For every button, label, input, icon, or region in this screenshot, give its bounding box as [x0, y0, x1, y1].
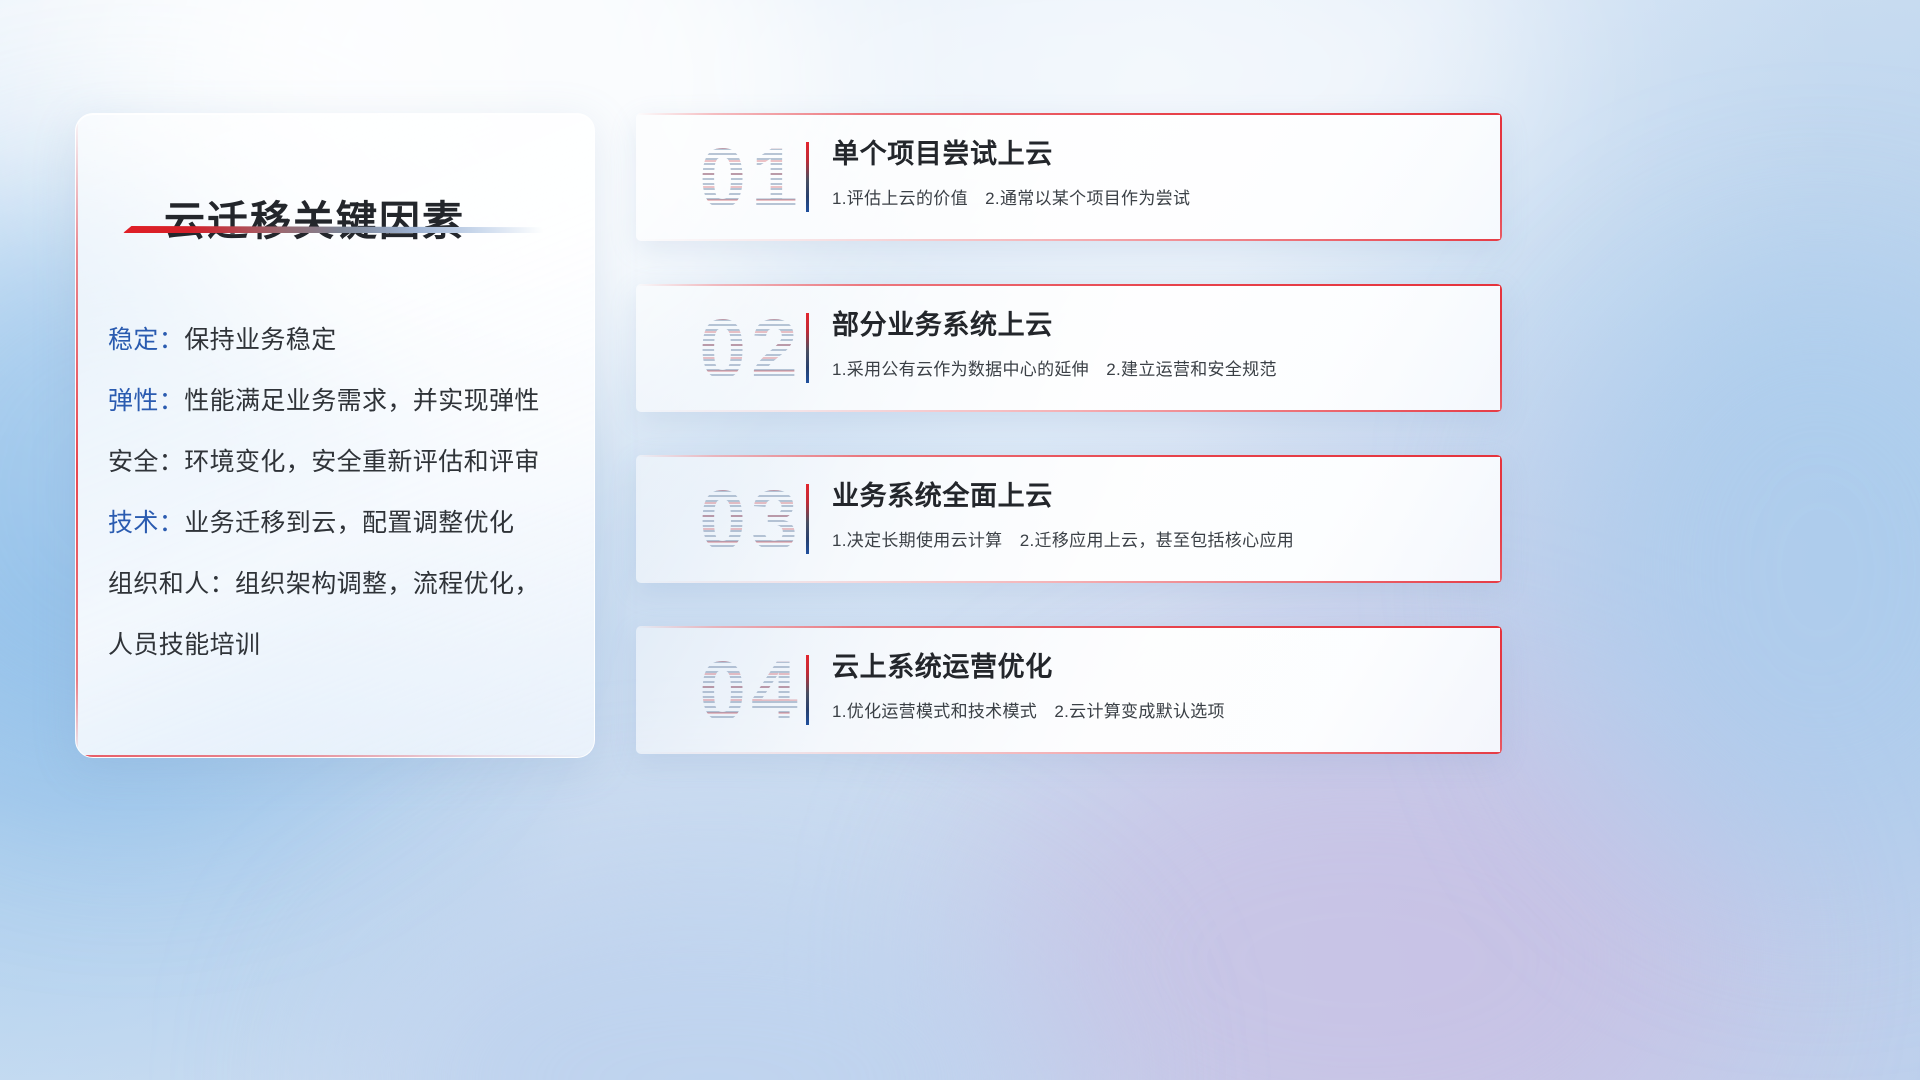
factor-list: 稳定：保持业务稳定弹性：性能满足业务需求，并实现弹性安全：环境变化，安全重新评估…: [108, 310, 576, 676]
factor-row: 稳定：保持业务稳定: [108, 310, 576, 371]
stage-title: 云上系统运营优化: [832, 648, 1480, 686]
factor-description: 性能满足业务需求，并实现弹性: [184, 387, 540, 415]
stage-body: 云上系统运营优化1.优化运营模式和技术模式 2.云计算变成默认选项: [832, 648, 1480, 722]
factor-label: 稳定：: [108, 326, 184, 354]
background-glow-right: [1560, 260, 1920, 880]
migration-stage-card[interactable]: 0404云上系统运营优化1.优化运营模式和技术模式 2.云计算变成默认选项: [636, 626, 1502, 754]
card-right-accent: [1500, 113, 1502, 241]
stage-title: 业务系统全面上云: [832, 477, 1480, 515]
card-bottom-accent: [636, 410, 1502, 412]
background-glow-bottom: [340, 880, 1080, 1080]
stage-divider-accent: [806, 655, 809, 725]
card-top-accent: [636, 284, 1502, 286]
migration-stage-list: 0101单个项目尝试上云1.评估上云的价值 2.通常以某个项目作为尝试0202部…: [636, 113, 1502, 797]
stage-body: 部分业务系统上云1.采用公有云作为数据中心的延伸 2.建立运营和安全规范: [832, 306, 1480, 380]
factor-description: 环境变化，安全重新评估和评审: [184, 448, 540, 476]
card-bottom-accent: [636, 581, 1502, 583]
stage-body: 业务系统全面上云1.决定长期使用云计算 2.迁移应用上云，甚至包括核心应用: [832, 477, 1480, 551]
stage-number-scanline-overlay: 03: [656, 465, 846, 575]
factor-label: 组织和人：: [108, 570, 235, 598]
factor-label: 安全：: [108, 448, 184, 476]
stage-title: 部分业务系统上云: [832, 306, 1480, 344]
stage-divider-accent: [806, 142, 809, 212]
card-right-accent: [1500, 626, 1502, 754]
factor-description: 业务迁移到云，配置调整优化: [184, 509, 514, 537]
factor-label: 弹性：: [108, 387, 184, 415]
stage-subtitle: 1.评估上云的价值 2.通常以某个项目作为尝试: [832, 184, 1480, 209]
factor-label: 技术：: [108, 509, 184, 537]
migration-stage-card[interactable]: 0101单个项目尝试上云1.评估上云的价值 2.通常以某个项目作为尝试: [636, 113, 1502, 241]
factor-row: 技术：业务迁移到云，配置调整优化: [108, 493, 576, 554]
stage-number-scanline-overlay: 01: [656, 123, 846, 233]
factor-description: 人员技能培训: [108, 631, 260, 659]
stage-number-scanline-overlay: 04: [656, 636, 846, 746]
migration-stage-card[interactable]: 0202部分业务系统上云1.采用公有云作为数据中心的延伸 2.建立运营和安全规范: [636, 284, 1502, 412]
factor-row: 弹性：性能满足业务需求，并实现弹性: [108, 371, 576, 432]
factor-description: 保持业务稳定: [184, 326, 336, 354]
stage-body: 单个项目尝试上云1.评估上云的价值 2.通常以某个项目作为尝试: [832, 135, 1480, 209]
key-factors-panel: 云迁移关键因素 稳定：保持业务稳定弹性：性能满足业务需求，并实现弹性安全：环境变…: [75, 113, 595, 758]
factor-row: 安全：环境变化，安全重新评估和评审: [108, 432, 576, 493]
stage-subtitle: 1.决定长期使用云计算 2.迁移应用上云，甚至包括核心应用: [832, 526, 1480, 551]
card-top-accent: [636, 626, 1502, 628]
slide-canvas: 云迁移关键因素 稳定：保持业务稳定弹性：性能满足业务需求，并实现弹性安全：环境变…: [0, 0, 1920, 1080]
migration-stage-card[interactable]: 0303业务系统全面上云1.决定长期使用云计算 2.迁移应用上云，甚至包括核心应…: [636, 455, 1502, 583]
card-bottom-accent: [636, 239, 1502, 241]
stage-subtitle: 1.采用公有云作为数据中心的延伸 2.建立运营和安全规范: [832, 355, 1480, 380]
stage-divider-accent: [806, 484, 809, 554]
title-underline-accent: [123, 226, 543, 233]
card-right-accent: [1500, 284, 1502, 412]
stage-title: 单个项目尝试上云: [832, 135, 1480, 173]
factor-description: 组织架构调整，流程优化，: [235, 570, 540, 598]
card-top-accent: [636, 455, 1502, 457]
card-bottom-accent: [636, 752, 1502, 754]
stage-number-scanline-overlay: 02: [656, 294, 846, 404]
factor-row: 人员技能培训: [108, 615, 576, 676]
stage-divider-accent: [806, 313, 809, 383]
card-top-accent: [636, 113, 1502, 115]
page-title: 云迁移关键因素: [164, 187, 465, 247]
stage-subtitle: 1.优化运营模式和技术模式 2.云计算变成默认选项: [832, 697, 1480, 722]
card-right-accent: [1500, 455, 1502, 583]
factor-row: 组织和人：组织架构调整，流程优化，: [108, 554, 576, 615]
